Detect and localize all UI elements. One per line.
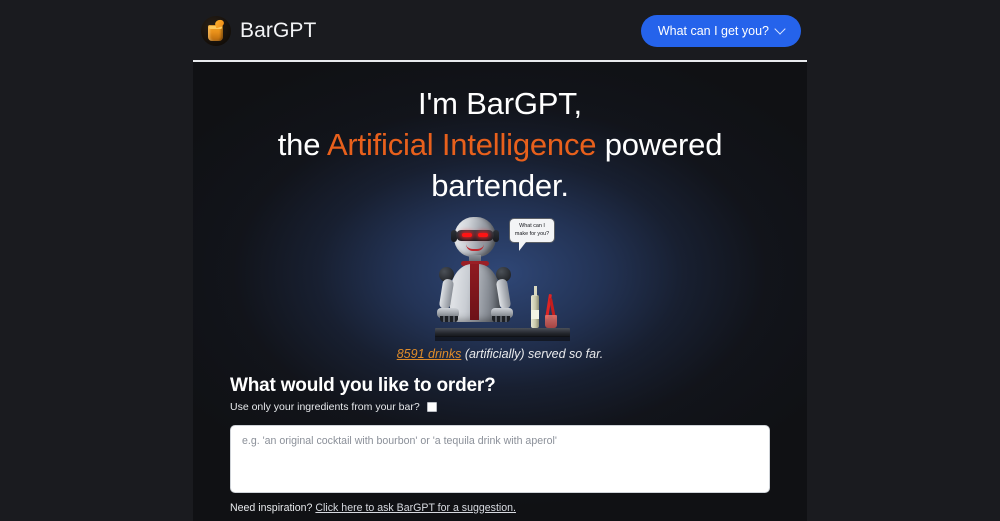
- drinks-served-suffix: (artificially) served so far.: [461, 347, 603, 361]
- order-heading: What would you like to order?: [230, 375, 770, 397]
- suggestion-link[interactable]: Click here to ask BarGPT for a suggestio…: [315, 502, 516, 514]
- order-form: What would you like to order? Use only y…: [193, 375, 807, 521]
- robot-visor-icon: [456, 230, 494, 241]
- drinks-served-line: 8591 drinks (artificially) served so far…: [193, 347, 807, 361]
- site-header: BarGPT What can I get you?: [193, 0, 807, 61]
- robot-eye-left-icon: [462, 233, 472, 237]
- ingredients-label: Use only your ingredients from your bar?: [230, 401, 420, 413]
- content-container: BarGPT What can I get you? I'm BarGPT, t…: [193, 0, 807, 521]
- what-can-i-get-you-button[interactable]: What can I get you?: [641, 15, 801, 47]
- drinks-count-link[interactable]: 8591 drinks: [397, 347, 462, 361]
- robot-bartender-illustration: What can I make for you?: [425, 215, 575, 337]
- brand-name: BarGPT: [240, 19, 316, 43]
- headline-line-1: I'm BarGPT,: [418, 86, 582, 121]
- nav-cta-label: What can I get you?: [658, 24, 769, 38]
- headline-line-3: bartender.: [431, 168, 569, 203]
- ingredients-option-row: Use only your ingredients from your bar?: [230, 401, 770, 413]
- robot-eye-right-icon: [478, 233, 488, 237]
- page-root: BarGPT What can I get you? I'm BarGPT, t…: [0, 0, 1000, 521]
- page-title: I'm BarGPT, the Artificial Intelligence …: [193, 84, 807, 207]
- headline-line-2-suffix: powered: [596, 127, 722, 162]
- order-prompt-textarea[interactable]: [230, 425, 770, 493]
- cocktail-glass-icon: [201, 16, 231, 46]
- robot-head-icon: [454, 217, 496, 257]
- inspiration-line: Need inspiration? Click here to ask BarG…: [230, 502, 770, 514]
- chevron-down-icon: [774, 23, 785, 34]
- bar-bottles-icon: [525, 288, 567, 328]
- brand-logo-link[interactable]: BarGPT: [201, 16, 316, 46]
- inspiration-prefix: Need inspiration?: [230, 502, 315, 514]
- speech-bubble: What can I make for you?: [509, 218, 555, 244]
- use-my-ingredients-checkbox[interactable]: [427, 402, 437, 412]
- hero-section: I'm BarGPT, the Artificial Intelligence …: [193, 62, 807, 521]
- headline-accent: Artificial Intelligence: [327, 127, 596, 162]
- header-divider: [193, 60, 807, 62]
- headline-line-2-prefix: the: [278, 127, 327, 162]
- robot-mouth-icon: [466, 244, 484, 251]
- mascot-container: What can I make for you?: [193, 215, 807, 337]
